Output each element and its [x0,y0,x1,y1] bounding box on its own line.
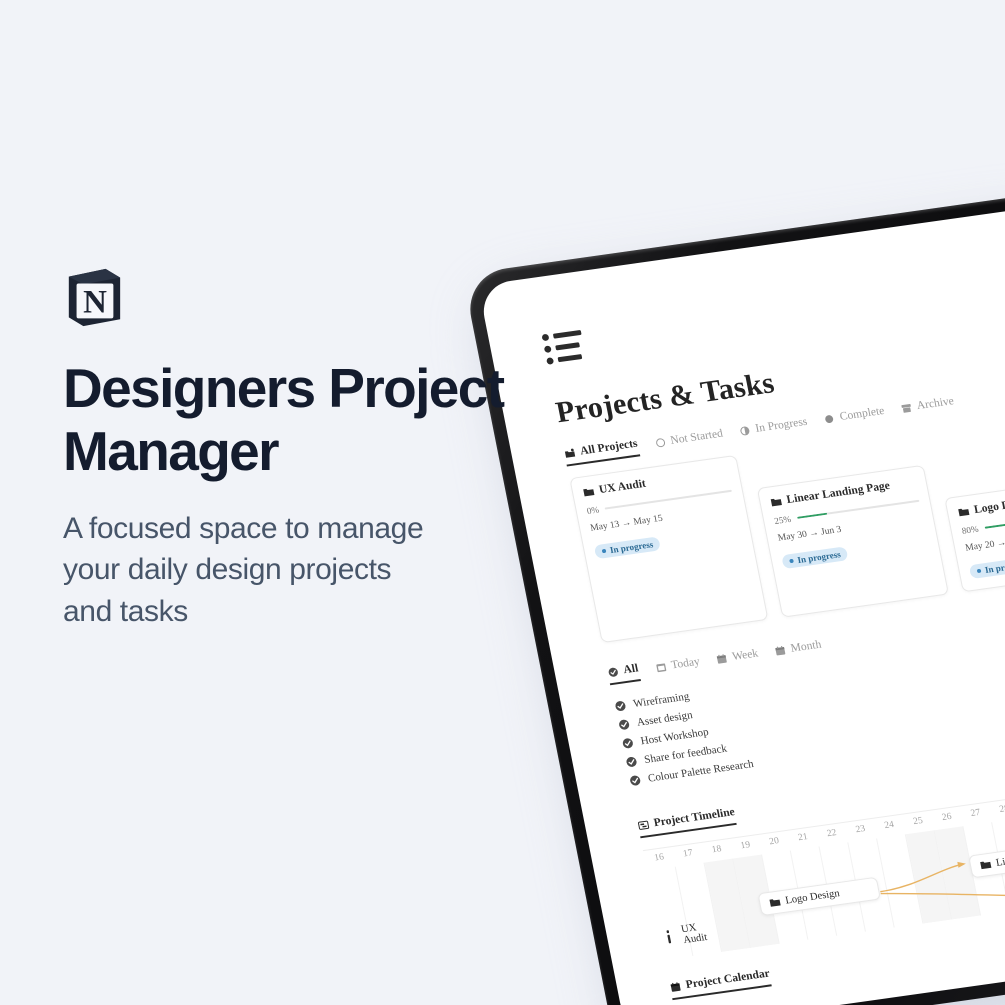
check-circle-icon[interactable] [621,736,635,749]
tab-label: Project Calendar [685,968,771,992]
projects-icon [563,447,576,459]
timeline-row-name: UX Audit [680,921,708,946]
tab-project-calendar[interactable]: Project Calendar [669,968,772,1001]
status-dot-icon [602,549,607,553]
tab-complete[interactable]: Complete [823,405,887,430]
tab-label: Month [790,639,823,655]
folder-icon [582,487,595,497]
tab-in-progress[interactable]: In Progress [738,416,809,442]
tab-all-tasks[interactable]: All [607,662,641,685]
tab-month[interactable]: Month [774,639,824,662]
tab-today[interactable]: Today [654,656,702,679]
tab-all-projects[interactable]: All Projects [563,438,640,467]
progress-label: 25% [773,514,791,526]
folder-icon [769,897,782,907]
project-card[interactable]: Linear Landing Page 25% May 30 → Jun 3 I… [757,465,949,618]
page-title: Designers Project Manager [63,357,563,482]
tab-label: Project Timeline [653,806,736,829]
circle-empty-icon [654,436,667,448]
status-label: In progress [609,539,654,555]
project-card[interactable]: Logo Design 80% May 20 → May In progress [944,475,1005,593]
circle-full-icon [823,412,836,424]
progress-label: 80% [961,524,979,536]
circle-half-icon [739,424,752,436]
calendar-day-icon [654,661,667,673]
tab-project-timeline[interactable]: Project Timeline [637,806,737,838]
tab-label: Not Started [669,428,724,447]
folder-icon [979,860,992,870]
check-circle-icon[interactable] [624,755,638,768]
folder-icon [770,496,783,506]
status-label: In progress [984,559,1005,575]
check-circle-icon [607,666,620,678]
project-card[interactable]: UX Audit 0% May 13 → May 15 In progress [569,455,768,643]
status-badge: In progress [969,556,1005,579]
tab-label: In Progress [754,416,808,435]
calendar-week-icon [715,652,728,664]
tab-week[interactable]: Week [715,648,760,671]
progress-label: 0% [586,505,600,516]
calendar-icon [669,980,682,992]
tab-label: Today [670,656,701,672]
timeline-icon [637,819,650,831]
check-circle-icon[interactable] [617,717,631,730]
folder-icon [957,506,970,516]
tab-label: Archive [916,395,955,412]
status-badge: In progress [594,536,662,559]
svg-text:N: N [83,285,107,321]
marketing-panel: N Designers Project Manager A focused sp… [63,265,563,632]
status-dot-icon [789,559,794,563]
calendar-month-icon [774,644,787,656]
status-dot-icon [977,569,982,573]
project-name: Logo Design [973,496,1005,516]
info-icon [659,928,679,947]
project-card-header: Logo Design [957,486,1005,518]
tab-label: All Projects [579,438,638,458]
tab-label: All [622,662,639,676]
status-badge: In progress [781,546,849,569]
check-circle-icon[interactable] [628,773,642,786]
notion-logo-icon: N [63,265,125,329]
archive-icon [900,402,913,414]
tab-archive[interactable]: Archive [900,395,956,419]
page-subtitle: A focused space to manage your daily des… [63,508,563,631]
status-label: In progress [797,549,842,565]
project-name: UX Audit [598,478,647,496]
tab-label: Week [731,648,759,663]
tab-not-started[interactable]: Not Started [653,428,724,454]
tab-label: Complete [839,405,886,423]
timeline-bar-label: Logo Design [784,888,840,906]
check-circle-icon[interactable] [613,699,627,712]
